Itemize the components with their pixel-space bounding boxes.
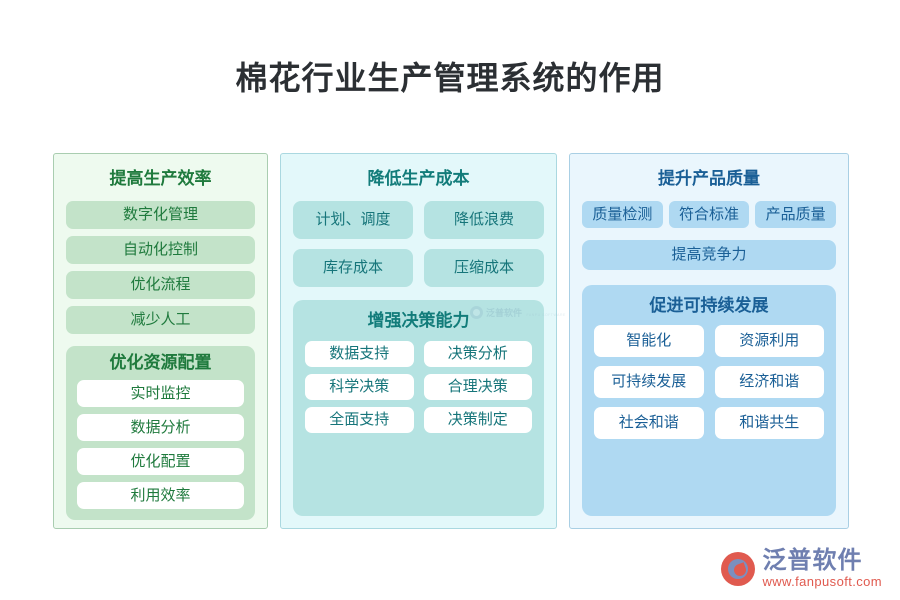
sustainable-chip-grid: 智能化 资源利用 可持续发展 经济和谐 社会和谐 和谐共生: [594, 325, 824, 439]
pill-efficiency-4[interactable]: 减少人工: [66, 306, 255, 334]
card-sustainable-development: 促进可持续发展 智能化 资源利用 可持续发展 经济和谐 社会和谐 和谐共生: [582, 285, 836, 516]
panel-title-quality: 提升产品质量: [582, 170, 836, 189]
card-title-resource-allocation: 优化资源配置: [77, 354, 244, 373]
chip-decision-2[interactable]: 决策分析: [424, 341, 533, 367]
chip-resource-4[interactable]: 利用效率: [77, 482, 244, 509]
panel-efficiency: 提高生产效率 数字化管理 自动化控制 优化流程 减少人工 优化资源配置 实时监控…: [53, 153, 268, 529]
card-title-sustainable-development: 促进可持续发展: [594, 297, 824, 316]
quality-pill-row: 质量检测 符合标准 产品质量: [582, 201, 836, 228]
chip-sustainable-3[interactable]: 可持续发展: [594, 366, 704, 398]
chip-resource-2[interactable]: 数据分析: [77, 414, 244, 441]
pill-quality-2[interactable]: 符合标准: [669, 201, 750, 228]
chip-resource-1[interactable]: 实时监控: [77, 380, 244, 407]
brand-url: www.fanpusoft.com: [762, 575, 882, 588]
chip-sustainable-1[interactable]: 智能化: [594, 325, 704, 357]
card-decision-capability: 增强决策能力 数据支持 决策分析 科学决策 合理决策 全面支持 决策制定: [293, 300, 544, 516]
fanpu-logo-icon: [721, 552, 755, 586]
chip-sustainable-2[interactable]: 资源利用: [715, 325, 825, 357]
chip-decision-3[interactable]: 科学决策: [305, 374, 414, 400]
chip-decision-4[interactable]: 合理决策: [424, 374, 533, 400]
chip-decision-1[interactable]: 数据支持: [305, 341, 414, 367]
chip-decision-6[interactable]: 决策制定: [424, 407, 533, 433]
columns-container: 提高生产效率 数字化管理 自动化控制 优化流程 减少人工 优化资源配置 实时监控…: [53, 153, 849, 529]
pill-quality-competitiveness[interactable]: 提高竞争力: [582, 240, 836, 270]
chip-sustainable-6[interactable]: 和谐共生: [715, 407, 825, 439]
card-title-decision-capability: 增强决策能力: [305, 312, 532, 331]
chip-resource-3[interactable]: 优化配置: [77, 448, 244, 475]
card-resource-allocation: 优化资源配置 实时监控 数据分析 优化配置 利用效率: [66, 346, 255, 521]
page-title: 棉花行业生产管理系统的作用: [0, 0, 900, 94]
decision-chip-grid: 数据支持 决策分析 科学决策 合理决策 全面支持 决策制定: [305, 341, 532, 433]
pill-quality-1[interactable]: 质量检测: [582, 201, 663, 228]
panel-quality: 提升产品质量 质量检测 符合标准 产品质量 提高竞争力 促进可持续发展 智能化 …: [569, 153, 849, 529]
chip-sustainable-5[interactable]: 社会和谐: [594, 407, 704, 439]
chip-decision-5[interactable]: 全面支持: [305, 407, 414, 433]
panel-cost: 降低生产成本 计划、调度 降低浪费 库存成本 压缩成本 增强决策能力 数据支持 …: [280, 153, 557, 529]
pill-cost-1[interactable]: 计划、调度: [293, 201, 413, 239]
panel-title-cost: 降低生产成本: [293, 170, 544, 189]
panel-title-efficiency: 提高生产效率: [66, 170, 255, 189]
pill-efficiency-3[interactable]: 优化流程: [66, 271, 255, 299]
brand-logo-text: 泛普软件 www.fanpusoft.com: [762, 549, 882, 588]
pill-quality-3[interactable]: 产品质量: [755, 201, 836, 228]
pill-efficiency-2[interactable]: 自动化控制: [66, 236, 255, 264]
cost-pill-grid: 计划、调度 降低浪费 库存成本 压缩成本: [293, 201, 544, 287]
brand-logo: 泛普软件 www.fanpusoft.com: [721, 549, 882, 588]
pill-cost-2[interactable]: 降低浪费: [424, 201, 544, 239]
pill-cost-3[interactable]: 库存成本: [293, 249, 413, 287]
pill-cost-4[interactable]: 压缩成本: [424, 249, 544, 287]
chip-sustainable-4[interactable]: 经济和谐: [715, 366, 825, 398]
brand-name: 泛普软件: [762, 549, 882, 573]
pill-efficiency-1[interactable]: 数字化管理: [66, 201, 255, 229]
